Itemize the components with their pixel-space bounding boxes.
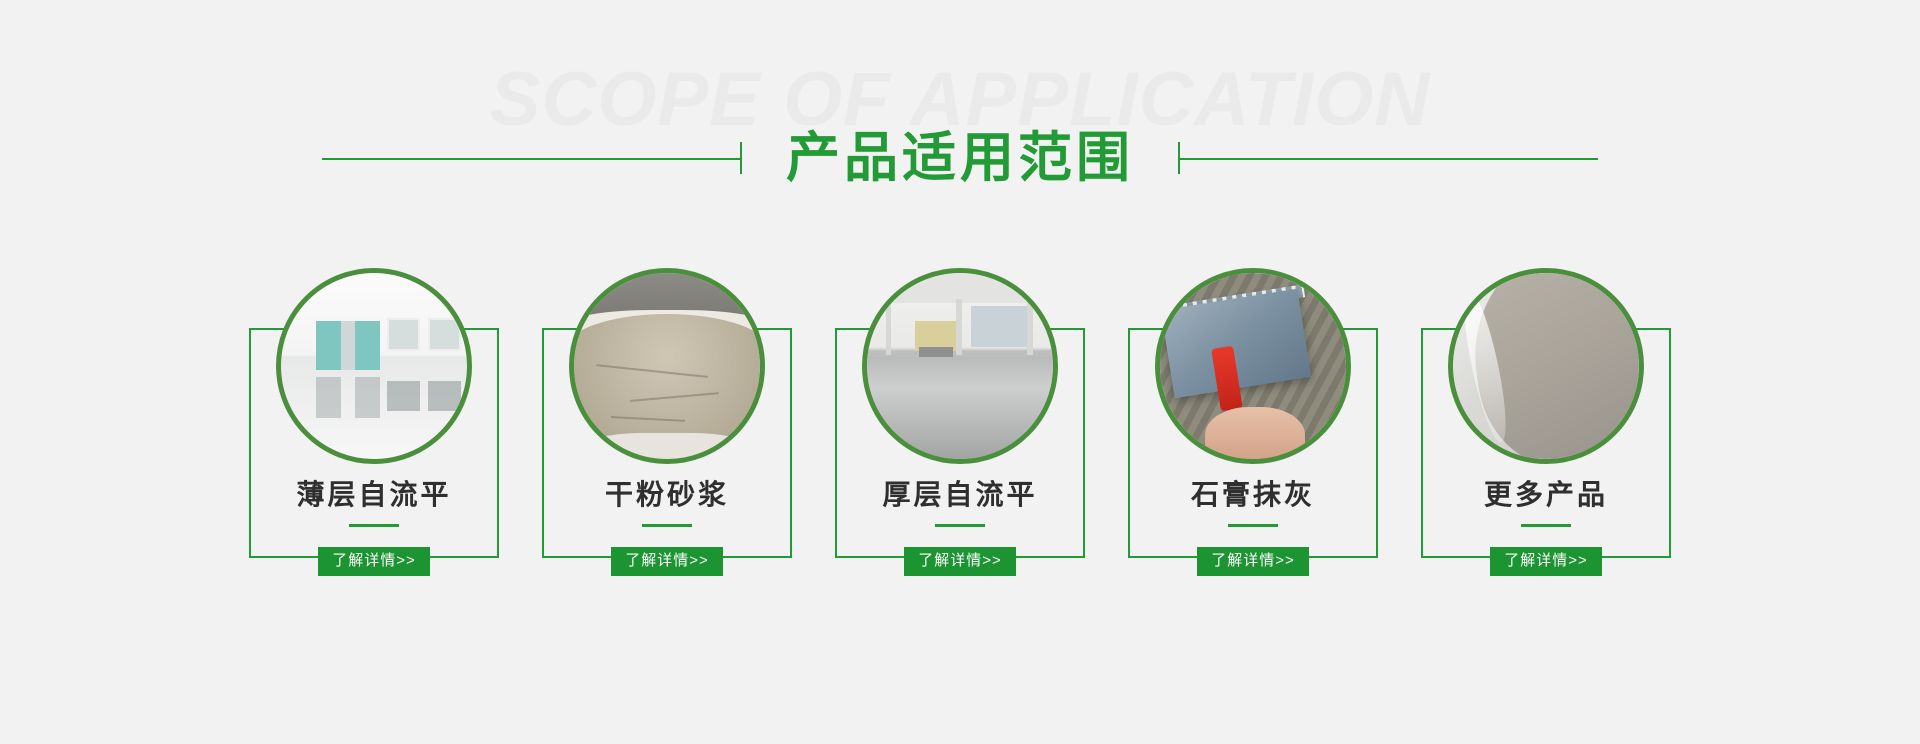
title-rule-right <box>1178 142 1598 174</box>
card-body: 石膏抹灰 了解详情>> <box>1128 464 1378 576</box>
section-header: SCOPE OF APPLICATION 产品适用范围 <box>0 0 1920 215</box>
learn-more-button[interactable]: 了解详情>> <box>1197 547 1309 577</box>
thick-layer-self-leveling-floor-photo <box>867 273 1053 459</box>
learn-more-button[interactable]: 了解详情>> <box>904 547 1016 577</box>
card-body: 干粉砂浆 了解详情>> <box>542 464 792 576</box>
card-divider <box>935 524 985 527</box>
card-image-circle <box>862 268 1058 464</box>
card-image-circle <box>569 268 765 464</box>
dry-powder-mortar-photo <box>574 273 760 459</box>
learn-more-button[interactable]: 了解详情>> <box>1490 547 1602 577</box>
card-divider <box>1521 524 1571 527</box>
card-image-circle <box>1155 268 1351 464</box>
card-body: 厚层自流平 了解详情>> <box>835 464 1085 576</box>
thin-layer-self-leveling-floor-photo <box>281 273 467 459</box>
card-body: 更多产品 了解详情>> <box>1421 464 1671 576</box>
card-label: 干粉砂浆 <box>542 478 792 512</box>
product-card[interactable]: 石膏抹灰 了解详情>> <box>1128 268 1378 558</box>
card-divider <box>1228 524 1278 527</box>
title-rule-left <box>322 142 742 174</box>
learn-more-button[interactable]: 了解详情>> <box>611 547 723 577</box>
card-image-circle <box>276 268 472 464</box>
card-divider <box>642 524 692 527</box>
product-card[interactable]: 干粉砂浆 了解详情>> <box>542 268 792 558</box>
learn-more-button[interactable]: 了解详情>> <box>318 547 430 577</box>
product-card[interactable]: 更多产品 了解详情>> <box>1421 268 1671 558</box>
card-label: 厚层自流平 <box>835 478 1085 512</box>
product-card[interactable]: 薄层自流平 了解详情>> <box>249 268 499 558</box>
card-label: 更多产品 <box>1421 478 1671 512</box>
more-products-polished-surface-photo <box>1453 273 1639 459</box>
card-image-circle <box>1448 268 1644 464</box>
page-title: 产品适用范围 <box>742 131 1178 185</box>
card-label: 石膏抹灰 <box>1128 478 1378 512</box>
product-card[interactable]: 厚层自流平 了解详情>> <box>835 268 1085 558</box>
product-card-list: 薄层自流平 了解详情>> 干粉砂浆 了解详情>> <box>0 268 1920 558</box>
gypsum-plastering-trowel-photo <box>1160 273 1346 459</box>
title-row: 产品适用范围 <box>0 118 1920 198</box>
card-divider <box>349 524 399 527</box>
card-label: 薄层自流平 <box>249 478 499 512</box>
card-body: 薄层自流平 了解详情>> <box>249 464 499 576</box>
